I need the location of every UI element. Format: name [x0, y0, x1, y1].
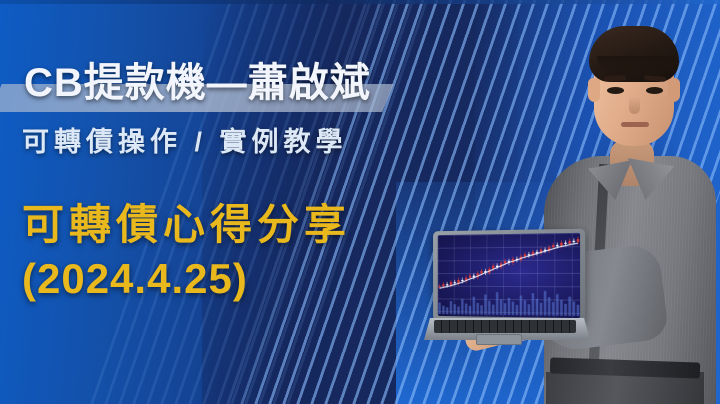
laptop-lid: [433, 229, 585, 324]
presenter-nose: [629, 96, 640, 114]
presenter-eye-left: [607, 87, 624, 94]
headline-block: 可轉債心得分享 (2024.4.25): [22, 198, 482, 306]
presenter-hair: [589, 26, 679, 82]
stock-candlestick-chart: [438, 233, 580, 318]
presenter-ear-right: [668, 78, 680, 102]
headline-line-2: (2024.4.25): [22, 252, 482, 306]
laptop-trackpad[interactable]: [476, 334, 522, 345]
headline-line-1: 可轉債心得分享: [22, 198, 482, 252]
presenter-mouth: [621, 122, 649, 127]
laptop-keyboard[interactable]: [434, 320, 576, 333]
presenter-ear-left: [588, 78, 600, 102]
laptop-screen: [438, 233, 580, 318]
presenter-eye-right: [646, 87, 663, 94]
laptop: [424, 230, 592, 358]
video-thumbnail: CB提款機—蕭啟斌 可轉債操作 / 實例教學 可轉債心得分享 (2024.4.2…: [0, 0, 720, 404]
